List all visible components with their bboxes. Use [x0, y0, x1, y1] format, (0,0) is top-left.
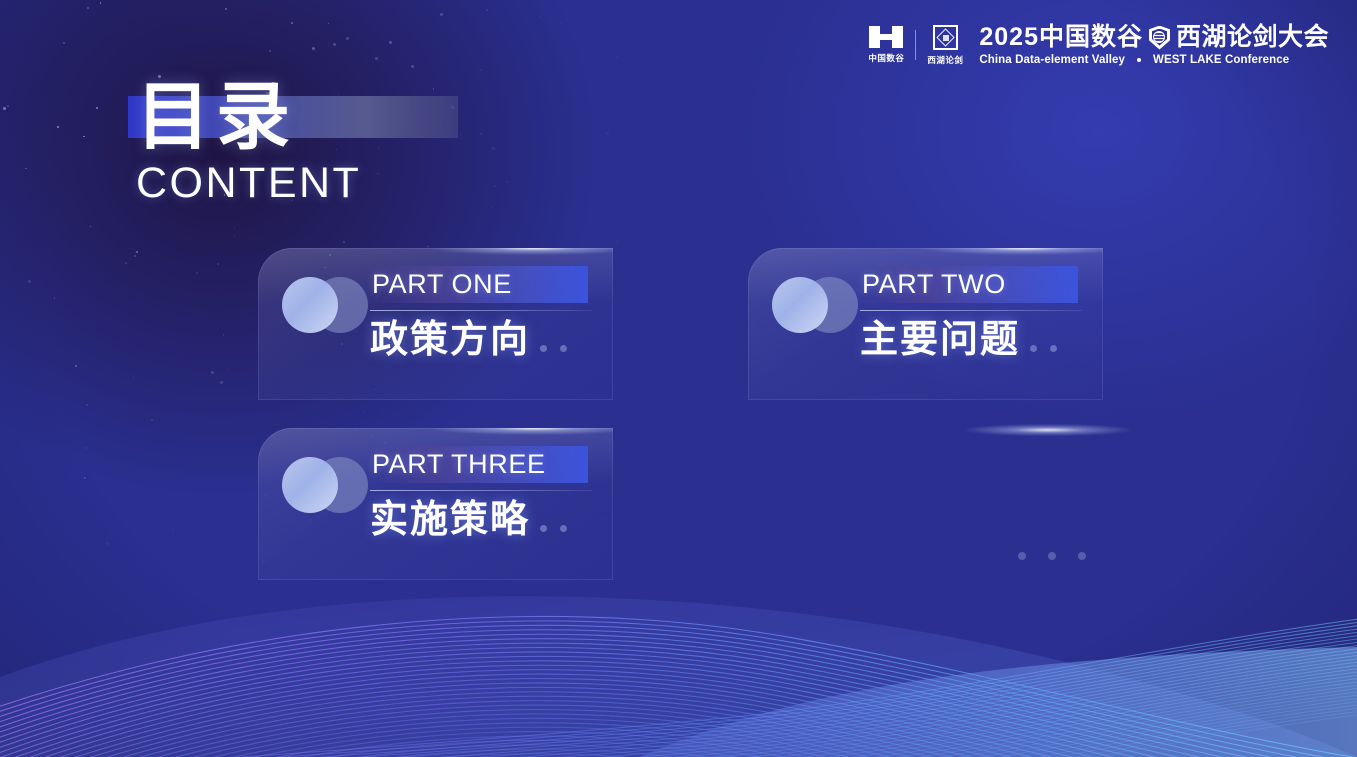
conference-title-cn: 2025中国数谷 西湖论剑大会 [979, 24, 1329, 50]
card-title-cn: 政策方向 [370, 317, 530, 361]
page-title-cn: 目录 [136, 78, 596, 156]
part-label: PART THREE [370, 446, 546, 483]
card-title-dots [1030, 345, 1070, 352]
card-title-dots [540, 525, 580, 532]
card-title-row: 主要问题 [860, 317, 1097, 361]
decorative-dot-group [1018, 552, 1108, 560]
card-divider [370, 490, 592, 491]
card-title-dots [540, 345, 580, 352]
conference-subtitle-en: China Data-element Valley WEST LAKE Conf… [979, 54, 1329, 66]
card-light-streak [919, 248, 1103, 255]
part-band: PART TWO [860, 266, 1078, 303]
decorative-light-streak [963, 424, 1133, 436]
conference-subtitle-right: WEST LAKE Conference [1153, 54, 1289, 66]
china-data-valley-logo: 中国数谷 [868, 26, 904, 64]
china-data-valley-caption: 中国数谷 [868, 52, 904, 64]
conference-logo-bar: 中国数谷 西湖论剑 2025中国数谷 西湖论剑大会 China Data-ele… [868, 22, 1329, 68]
square-emblem-icon [933, 25, 958, 50]
page-title: 目录 CONTENT [136, 78, 596, 206]
card-body: PART THREE 实施策略 [370, 446, 607, 541]
content-card-part-two[interactable]: PART TWO 主要问题 [748, 248, 1103, 400]
dual-circle-icon [282, 457, 368, 513]
h-mark-icon [869, 26, 903, 48]
content-card-part-three[interactable]: PART THREE 实施策略 [258, 428, 613, 580]
slide-canvas: 中国数谷 西湖论剑 2025中国数谷 西湖论剑大会 China Data-ele… [0, 0, 1357, 757]
west-lake-logo: 西湖论剑 [927, 25, 963, 66]
dual-circle-icon [772, 277, 858, 333]
dual-circle-icon [282, 277, 368, 333]
conference-subtitle-left: China Data-element Valley [979, 54, 1125, 66]
part-label: PART TWO [860, 266, 1006, 303]
content-card-part-one[interactable]: PART ONE 政策方向 [258, 248, 613, 400]
subtitle-dot-separator [1137, 58, 1141, 62]
wave-decoration [0, 527, 1357, 757]
card-title-cn: 主要问题 [860, 317, 1020, 361]
card-title-cn: 实施策略 [370, 497, 530, 541]
part-band: PART ONE [370, 266, 588, 303]
card-divider [860, 310, 1082, 311]
part-band: PART THREE [370, 446, 588, 483]
west-lake-caption: 西湖论剑 [927, 54, 963, 66]
card-body: PART ONE 政策方向 [370, 266, 607, 361]
card-light-streak [429, 248, 613, 255]
shield-globe-icon [1149, 26, 1170, 50]
card-body: PART TWO 主要问题 [860, 266, 1097, 361]
card-light-streak [429, 428, 613, 435]
part-label: PART ONE [370, 266, 512, 303]
conference-title-block: 2025中国数谷 西湖论剑大会 China Data-element Valle… [979, 24, 1329, 65]
card-title-row: 实施策略 [370, 497, 607, 541]
logo-divider [915, 30, 916, 60]
conference-title-cn-left: 2025中国数谷 [979, 24, 1143, 50]
conference-title-cn-right: 西湖论剑大会 [1176, 24, 1329, 50]
card-title-row: 政策方向 [370, 317, 607, 361]
card-divider [370, 310, 592, 311]
page-title-en: CONTENT [136, 160, 596, 206]
